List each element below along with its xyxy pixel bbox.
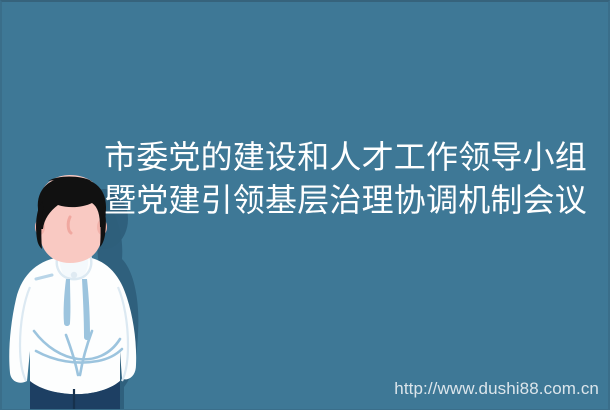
- banner-image: 市委党的建设和人才工作领导小组 暨党建引领基层治理协调机制会议 http://w…: [0, 0, 610, 410]
- headline-line-2: 暨党建引领基层治理协调机制会议: [104, 179, 600, 222]
- headline-line-1: 市委党的建设和人才工作领导小组: [104, 136, 600, 179]
- watermark-url: http://www.dushi88.com.cn: [394, 379, 599, 399]
- headline-title: 市委党的建设和人才工作领导小组 暨党建引领基层治理协调机制会议: [104, 136, 600, 222]
